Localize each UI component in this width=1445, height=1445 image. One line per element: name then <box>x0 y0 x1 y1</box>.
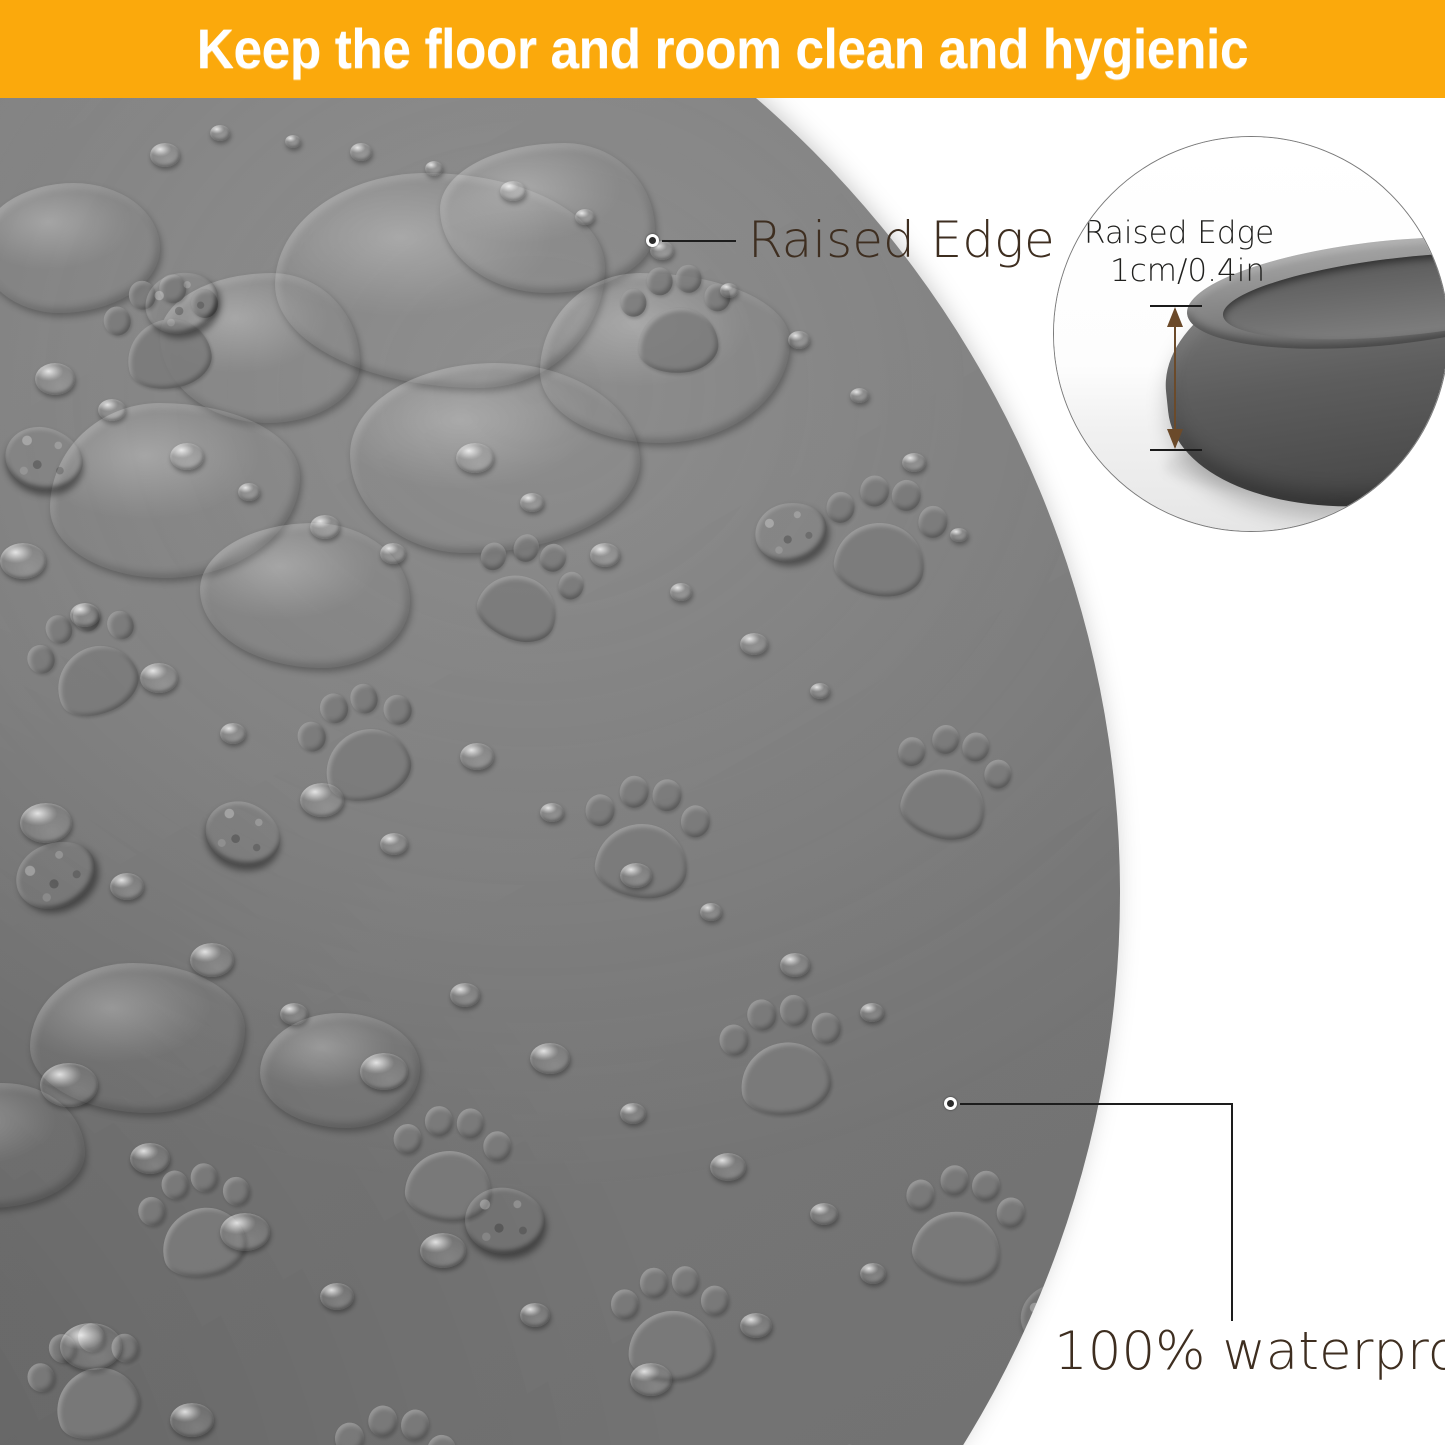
water-film <box>275 173 605 388</box>
dimension-arrowhead-up <box>1167 307 1183 327</box>
dimension-arrow <box>1158 305 1192 451</box>
water-droplet <box>590 543 620 567</box>
water-droplet <box>380 543 406 564</box>
water-droplet <box>850 388 869 403</box>
water-droplet <box>300 783 344 817</box>
water-droplet <box>170 443 204 470</box>
water-droplet <box>20 803 72 843</box>
water-film <box>160 273 360 423</box>
water-droplet <box>710 1153 746 1181</box>
waterproof-leader-vertical <box>1231 1103 1233 1321</box>
water-droplet <box>140 663 178 693</box>
water-droplet <box>70 603 100 627</box>
water-droplet <box>456 443 494 473</box>
paw-print-emboss <box>12 585 164 737</box>
water-droplet <box>285 135 301 148</box>
water-droplet <box>780 953 810 977</box>
water-droplet <box>740 1313 772 1338</box>
water-droplet <box>810 683 830 699</box>
paw-print-emboss <box>615 258 736 379</box>
water-droplet <box>720 283 738 298</box>
paw-print-emboss <box>455 518 596 659</box>
water-droplet <box>810 1203 838 1225</box>
inset-title: Raised Edge <box>1084 215 1274 251</box>
water-droplet <box>320 1283 354 1310</box>
water-droplet <box>620 863 652 888</box>
water-film <box>30 963 245 1113</box>
product-feature-image: Keep the floor and room clean and hygien… <box>0 0 1445 1445</box>
paw-print-emboss <box>812 465 953 606</box>
water-droplet <box>860 1003 884 1022</box>
water-droplet <box>500 181 526 201</box>
water-film <box>200 523 410 668</box>
water-film <box>540 273 790 443</box>
paw-print-emboss <box>386 1099 514 1227</box>
raised-edge-detail-inset: Raised Edge 1cm/0.4in <box>1053 136 1445 532</box>
dimension-cap-bottom <box>1150 449 1202 451</box>
water-droplet <box>630 1363 672 1396</box>
water-droplet <box>530 1043 570 1074</box>
water-droplet <box>620 1103 646 1124</box>
water-droplet <box>380 833 408 855</box>
water-droplet <box>575 209 595 225</box>
paw-print-emboss <box>771 1434 906 1445</box>
water-droplet <box>220 723 246 744</box>
raised-edge-leader-line <box>662 240 736 242</box>
water-droplet <box>210 125 230 141</box>
paw-print-emboss <box>284 667 435 818</box>
kibble-piece <box>751 498 830 565</box>
waterproof-leader-horizontal <box>960 1103 1233 1105</box>
water-droplet <box>190 943 234 977</box>
paw-print-emboss <box>607 1260 733 1386</box>
paw-print-emboss <box>890 1153 1031 1294</box>
water-droplet <box>35 363 75 395</box>
water-film <box>50 403 300 578</box>
tray-raised-edge-rim <box>0 98 1120 1445</box>
water-droplet <box>950 528 968 542</box>
water-droplet <box>238 483 260 501</box>
paw-print-emboss <box>574 767 715 908</box>
kibble-piece <box>7 831 106 919</box>
water-droplet <box>350 143 372 161</box>
water-droplet <box>460 743 494 770</box>
water-droplet <box>700 903 722 921</box>
paw-print-emboss <box>323 1396 461 1445</box>
water-droplet <box>130 1143 170 1174</box>
water-droplet <box>540 803 564 822</box>
dimension-arrowhead-down <box>1167 429 1183 449</box>
water-droplet <box>360 1053 408 1090</box>
water-droplet <box>310 515 340 539</box>
waterproof-marker-dot <box>944 1097 957 1110</box>
water-droplet <box>740 633 768 655</box>
kibble-piece <box>140 266 225 340</box>
water-droplet <box>220 1213 270 1251</box>
water-film <box>260 1013 420 1128</box>
paw-print-emboss <box>13 1306 164 1445</box>
water-film <box>350 363 640 553</box>
water-droplet <box>860 1263 886 1284</box>
inset-label-group: Raised Edge 1cm/0.4in <box>1084 215 1274 291</box>
water-droplet <box>40 1063 98 1107</box>
water-droplet <box>788 331 810 349</box>
header-banner: Keep the floor and room clean and hygien… <box>0 0 1445 98</box>
tray-surface-shading <box>0 98 1120 1445</box>
paw-print-emboss <box>712 985 852 1125</box>
tray-inner-lip <box>0 98 1120 1445</box>
water-droplet <box>0 543 46 579</box>
water-droplet <box>520 493 544 512</box>
water-droplet <box>280 1003 308 1025</box>
water-film <box>0 1083 85 1208</box>
inset-measurement: 1cm/0.4in <box>1084 253 1274 291</box>
water-droplet <box>902 453 926 472</box>
paw-print-emboss <box>94 262 234 402</box>
water-film <box>440 143 655 293</box>
raised-edge-label: Raised Edge <box>748 215 1055 265</box>
water-droplet <box>520 1303 550 1327</box>
water-droplet <box>98 399 126 421</box>
water-droplet <box>420 1233 466 1268</box>
feeding-mat-tray <box>0 98 1120 1445</box>
water-droplet <box>450 983 480 1007</box>
water-droplet <box>425 161 443 176</box>
water-droplet <box>110 873 144 900</box>
kibble-piece <box>460 1182 549 1260</box>
water-droplet <box>170 1403 214 1437</box>
dimension-shaft <box>1174 309 1176 447</box>
water-droplet <box>670 583 692 601</box>
water-film <box>0 183 160 313</box>
water-droplet <box>150 143 180 167</box>
water-droplet <box>60 1323 122 1370</box>
raised-edge-marker-dot <box>646 234 659 247</box>
waterproof-label: 100% waterproof <box>1054 1325 1445 1378</box>
kibble-piece <box>195 789 290 878</box>
paw-print-emboss <box>128 1151 269 1292</box>
paw-print-emboss <box>877 710 1020 853</box>
banner-headline: Keep the floor and room clean and hygien… <box>197 21 1248 77</box>
kibble-piece <box>0 417 91 500</box>
